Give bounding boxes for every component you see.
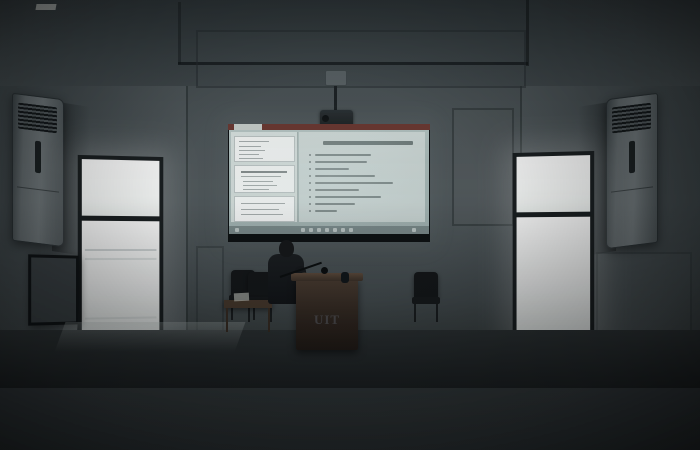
window-pane-upper: [517, 155, 591, 212]
wall-moulding: [452, 108, 514, 226]
slide-thumbnail: [234, 196, 295, 222]
projection-screen: [229, 130, 429, 234]
projector-pole: [334, 86, 337, 112]
ac-panel-seam: [17, 186, 59, 192]
microphone-secondary-icon: [341, 272, 349, 283]
current-slide: [299, 132, 425, 222]
window-right: [513, 151, 595, 347]
window-pane-upper: [82, 159, 160, 216]
ac-grille-icon: [612, 103, 651, 134]
window-pane-lower: [517, 217, 591, 343]
taskbar: [229, 226, 429, 234]
ac-vent-icon: [629, 141, 635, 174]
chair: [414, 272, 438, 298]
window-left: [78, 155, 164, 347]
podium-top: [291, 273, 363, 281]
side-table: [224, 300, 272, 308]
microphone-icon: [321, 267, 328, 274]
wall-moulding: [196, 30, 526, 88]
podium-emblem: UIT: [314, 312, 340, 328]
audience-area: [0, 336, 700, 450]
ceiling-beam-vertical: [526, 0, 529, 66]
projector-mount-icon: [325, 70, 347, 86]
slide-thumbnail: [234, 165, 295, 193]
ac-panel-seam: [611, 186, 653, 192]
air-conditioner-right: [606, 93, 658, 249]
projector-lens-icon: [322, 115, 329, 122]
podium-papers: [35, 4, 56, 10]
air-conditioner-left: [12, 93, 64, 247]
ac-vent-icon: [35, 141, 41, 174]
slide-thumbnail-pane: [231, 132, 298, 222]
side-table-papers: [234, 293, 249, 302]
ceiling-beam-edge: [178, 2, 181, 64]
slide-title: [323, 141, 413, 145]
lecture-hall-photo: UIT: [0, 0, 700, 450]
ac-grille-icon: [18, 103, 57, 134]
presenter-head: [279, 240, 294, 257]
whiteboard: [28, 254, 79, 325]
slide-thumbnail: [234, 136, 295, 162]
wall-moulding: [596, 252, 692, 338]
